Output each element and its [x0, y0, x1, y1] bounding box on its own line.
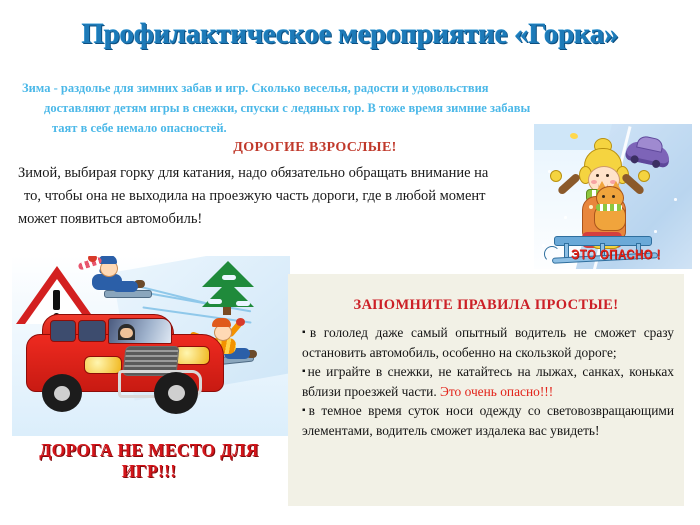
snowflake	[564, 216, 567, 219]
adults-line-1: Зимой, выбирая горку для катания, надо о…	[18, 162, 538, 185]
suv-headlight-icon	[84, 356, 122, 374]
suv-side-window	[78, 320, 106, 342]
rules-item-1: ▪в гололед даже самый опытный водитель н…	[302, 323, 674, 362]
suv-driver	[118, 324, 135, 340]
cat-eye	[612, 195, 615, 198]
road-danger-illustration	[2, 256, 290, 436]
intro-line-1: Зима - раздолье для зимних забав и игр. …	[22, 81, 489, 95]
rules-panel: ЗАПОМНИТЕ ПРАВИЛА ПРОСТЫЕ! ▪в гололед да…	[288, 274, 684, 506]
christmas-tree-icon	[198, 259, 258, 315]
intro-line-2: доставляют детям игры в снежки, спуски с…	[22, 98, 582, 118]
adults-line-3: может появиться автомобиль!	[18, 208, 538, 231]
child-mitten	[236, 318, 245, 326]
road-danger-caption: ДОРОГА НЕ МЕСТО ДЛЯ ИГР!!!	[10, 440, 288, 482]
snowflake	[548, 170, 551, 173]
sled-runner-curl	[544, 246, 560, 262]
rules-list: ▪в гололед даже самый опытный водитель н…	[302, 323, 674, 441]
cat-icon	[594, 186, 628, 228]
cat-scarf	[596, 204, 622, 211]
exclamation-bar	[53, 290, 60, 310]
cat-eye	[602, 195, 605, 198]
page-title: Профилактическое мероприятие «Горка»	[0, 18, 700, 51]
rules-item-1-text: в гололед даже самый опытный водитель не…	[302, 325, 674, 360]
intro-paragraph: Зима - раздолье для зимних забав и игр. …	[22, 78, 582, 138]
suv-hubcap	[168, 385, 185, 401]
snowflake	[654, 230, 657, 233]
bullet-icon: ▪	[302, 327, 310, 338]
adults-heading: ДОРОГИЕ ВЗРОСЛЫЕ!	[150, 140, 480, 156]
sled-danger-caption: ЭТО ОПАСНО !	[567, 246, 665, 262]
bullet-icon: ▪	[302, 405, 309, 416]
adults-paragraph: Зимой, выбирая горку для катания, надо о…	[18, 162, 538, 231]
rules-item-3-text: в темное время суток носи одежду со свет…	[302, 403, 674, 438]
rules-heading: ЗАПОМНИТЕ ПРАВИЛА ПРОСТЫЕ!	[288, 297, 684, 314]
rules-item-2-emphasis: Это очень опасно!!!	[440, 384, 553, 399]
tree-snow	[222, 275, 236, 280]
child-eye	[606, 174, 609, 177]
child-mitten	[638, 170, 650, 182]
poster-page: Профилактическое мероприятие «Горка» Зим…	[0, 0, 700, 525]
snowflake	[542, 244, 545, 247]
suv-rear-window	[50, 320, 76, 342]
tree-snow	[208, 299, 222, 304]
snowflake	[674, 198, 677, 201]
adults-line-2: то, чтобы она не выходила на проезжую ча…	[18, 185, 538, 208]
coat-dot	[589, 205, 593, 209]
suv-headlight-icon	[174, 346, 210, 365]
rules-item-2: ▪не играйте в снежки, не катайтесь на лы…	[302, 362, 674, 401]
red-suv-icon	[26, 312, 226, 417]
child-eye	[596, 174, 599, 177]
child-mitten	[550, 170, 562, 182]
intro-line-3: таят в себе немало опасностей.	[22, 118, 582, 138]
rules-item-3: ▪в темное время суток носи одежду со све…	[302, 401, 674, 440]
tree-snow	[236, 301, 250, 306]
suv-hubcap	[54, 386, 70, 401]
